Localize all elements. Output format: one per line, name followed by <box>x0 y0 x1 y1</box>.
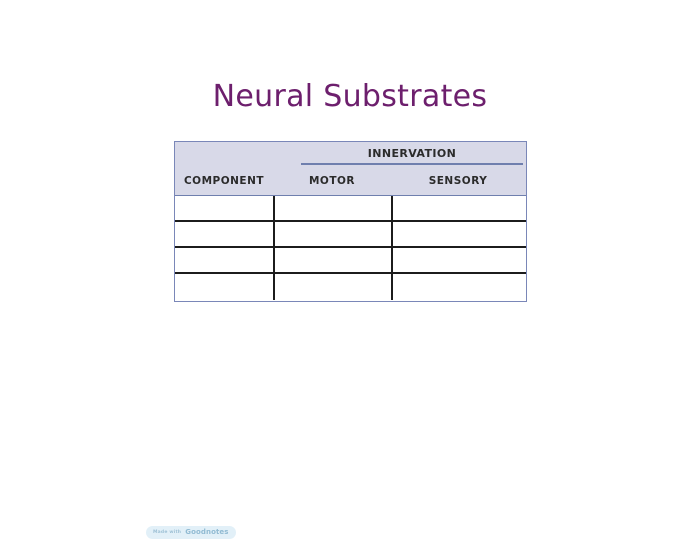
cell-motor[interactable] <box>273 274 391 300</box>
cell-component[interactable] <box>175 196 273 220</box>
neural-substrates-table: INNERVATION COMPONENT MOTOR SENSORY <box>174 141 527 302</box>
cell-motor[interactable] <box>273 248 391 272</box>
table-body <box>175 196 526 300</box>
table-row[interactable] <box>175 222 526 248</box>
cell-component[interactable] <box>175 274 273 300</box>
watermark-made-with-label: Made with <box>153 526 181 539</box>
column-header-component: COMPONENT <box>175 170 273 192</box>
cell-component[interactable] <box>175 248 273 272</box>
cell-motor[interactable] <box>273 222 391 246</box>
table-row[interactable] <box>175 196 526 222</box>
page-title: Neural Substrates <box>0 78 700 116</box>
column-header-motor: MOTOR <box>273 170 391 192</box>
cell-sensory[interactable] <box>391 222 525 246</box>
cell-sensory[interactable] <box>391 274 525 300</box>
cell-sensory[interactable] <box>391 196 525 220</box>
table-header: INNERVATION COMPONENT MOTOR SENSORY <box>175 142 526 196</box>
goodnotes-watermark-badge: Made with Goodnotes <box>146 526 236 539</box>
watermark-brand-label: Goodnotes <box>185 526 228 539</box>
cell-motor[interactable] <box>273 196 391 220</box>
table-row[interactable] <box>175 274 526 300</box>
table-row[interactable] <box>175 248 526 274</box>
table-header-row: COMPONENT MOTOR SENSORY <box>175 170 526 194</box>
column-group-header-innervation: INNERVATION <box>301 146 523 161</box>
slide-canvas: Neural Substrates INNERVATION COMPONENT … <box>0 0 700 550</box>
column-group-underline <box>301 163 523 165</box>
cell-component[interactable] <box>175 222 273 246</box>
cell-sensory[interactable] <box>391 248 525 272</box>
column-header-sensory: SENSORY <box>391 170 525 192</box>
